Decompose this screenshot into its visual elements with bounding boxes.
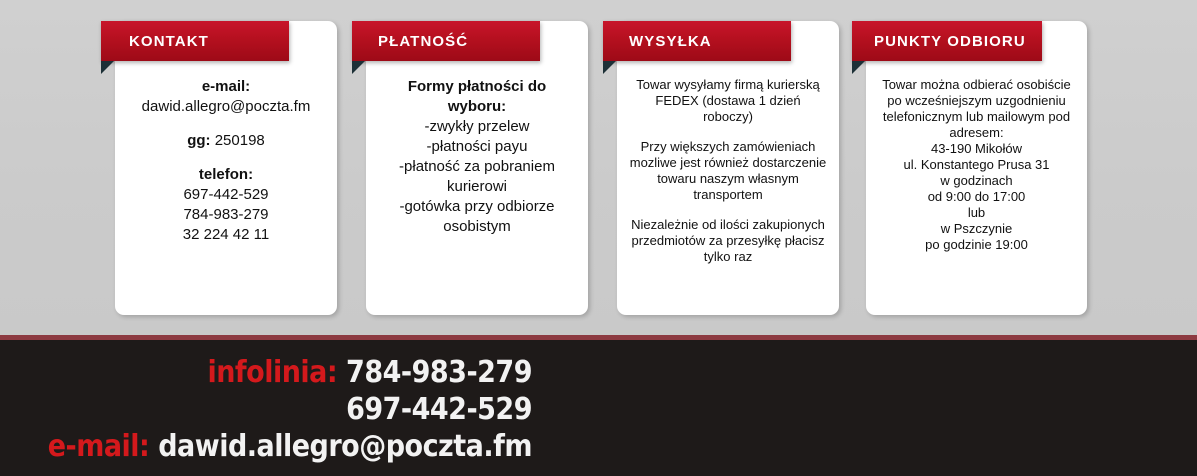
pickup-line-8: od 9:00 do 17:00 [874, 189, 1079, 205]
spacer [625, 203, 831, 217]
card-header-ribbon-wysylka: WYSYŁKA [603, 21, 791, 61]
pickup-line-3: telefonicznym lub mailowym pod [874, 109, 1079, 125]
phone-2: 784-983-279 [123, 205, 329, 225]
footer-hotline-value: 784-983-279 [337, 355, 532, 390]
card-header-ribbon-platnosc: PŁATNOŚĆ [352, 21, 540, 61]
phone-3: 32 224 42 11 [123, 225, 329, 245]
payment-option-2: -płatności payu [374, 137, 580, 157]
shipping-p1-line3: roboczy) [625, 109, 831, 125]
info-card-wysylka: Towar wysyłamy firmą kurierską FEDEX (do… [617, 21, 839, 315]
info-card-kontakt: e-mail: dawid.allegro@poczta.fm gg: 2501… [115, 21, 337, 315]
gg-label: gg: [187, 132, 210, 149]
pickup-line-10: w Pszczynie [874, 221, 1079, 237]
info-card-punkty-odbioru: Towar można odbierać osobiście po wcześn… [866, 21, 1087, 315]
footer-hotline-row-2: 697-442-529 [0, 391, 532, 428]
pickup-line-2: po wcześniejszym uzgodnieniu [874, 93, 1079, 109]
spacer [625, 125, 831, 139]
pickup-line-7: w godzinach [874, 173, 1079, 189]
payment-option-3-line2: kurierowi [374, 177, 580, 197]
pickup-line-1: Towar można odbierać osobiście [874, 77, 1079, 93]
card-body-punkty-odbioru: Towar można odbierać osobiście po wcześn… [874, 77, 1079, 253]
shipping-p2-line2: mozliwe jest również dostarczenie [625, 155, 831, 171]
pickup-line-5: 43-190 Mikołów [874, 141, 1079, 157]
shipping-p1-line2: FEDEX (dostawa 1 dzień [625, 93, 831, 109]
card-header-ribbon-kontakt: KONTAKT [101, 21, 289, 61]
email-value: dawid.allegro@poczta.fm [123, 97, 329, 117]
cards-area: e-mail: dawid.allegro@poczta.fm gg: 2501… [0, 0, 1197, 335]
payment-heading-line1: Formy płatności do [374, 77, 580, 97]
footer-hotline-label: infolinia: [207, 355, 337, 390]
shipping-p1-line1: Towar wysyłamy firmą kurierską [625, 77, 831, 93]
payment-option-4-line1: -gotówka przy odbiorze [374, 197, 580, 217]
email-label: e-mail: [123, 77, 329, 97]
shipping-p2-line4: transportem [625, 187, 831, 203]
pickup-line-11: po godzinie 19:00 [874, 237, 1079, 253]
shipping-p3-line2: przedmiotów za przesyłkę płacisz [625, 233, 831, 249]
shipping-p2-line3: towaru naszym własnym [625, 171, 831, 187]
footer-email-label: e-mail: [48, 429, 150, 464]
payment-heading-line2: wyboru: [374, 97, 580, 117]
pickup-line-4: adresem: [874, 125, 1079, 141]
payment-option-3-line1: -płatność za pobraniem [374, 157, 580, 177]
card-body-platnosc: Formy płatności do wyboru: -zwykły przel… [374, 77, 580, 237]
card-title-punkty-odbioru: PUNKTY ODBIORU [874, 33, 1026, 50]
shipping-p2-line1: Przy większych zamówieniach [625, 139, 831, 155]
shipping-p3-line1: Niezależnie od ilości zakupionych [625, 217, 831, 233]
pickup-line-9: lub [874, 205, 1079, 221]
payment-option-4-line2: osobistym [374, 217, 580, 237]
footer-contact-block: infolinia: 784-983-279 697-442-529 e-mai… [0, 354, 560, 465]
spacer [123, 151, 329, 165]
card-body-kontakt: e-mail: dawid.allegro@poczta.fm gg: 2501… [123, 77, 329, 245]
shipping-p3-line3: tylko raz [625, 249, 831, 265]
phone-label: telefon: [123, 165, 329, 185]
info-card-platnosc: Formy płatności do wyboru: -zwykły przel… [366, 21, 588, 315]
gg-value: 250198 [211, 132, 265, 149]
footer: infolinia: 784-983-279 697-442-529 e-mai… [0, 340, 1197, 476]
pickup-line-6: ul. Konstantego Prusa 31 [874, 157, 1079, 173]
gg-line: gg: 250198 [123, 131, 329, 151]
footer-hotline-row: infolinia: 784-983-279 [0, 354, 532, 391]
footer-email-value: dawid.allegro@poczta.fm [149, 429, 532, 464]
card-title-wysylka: WYSYŁKA [629, 33, 712, 50]
phone-1: 697-442-529 [123, 185, 329, 205]
card-header-ribbon-punkty-odbioru: PUNKTY ODBIORU [852, 21, 1042, 61]
footer-hotline-value-2: 697-442-529 [346, 392, 532, 427]
spacer [123, 117, 329, 131]
card-title-kontakt: KONTAKT [129, 33, 209, 50]
card-body-wysylka: Towar wysyłamy firmą kurierską FEDEX (do… [625, 77, 831, 265]
card-title-platnosc: PŁATNOŚĆ [378, 33, 468, 50]
payment-option-1: -zwykły przelew [374, 117, 580, 137]
footer-email-row: e-mail: dawid.allegro@poczta.fm [0, 428, 532, 465]
